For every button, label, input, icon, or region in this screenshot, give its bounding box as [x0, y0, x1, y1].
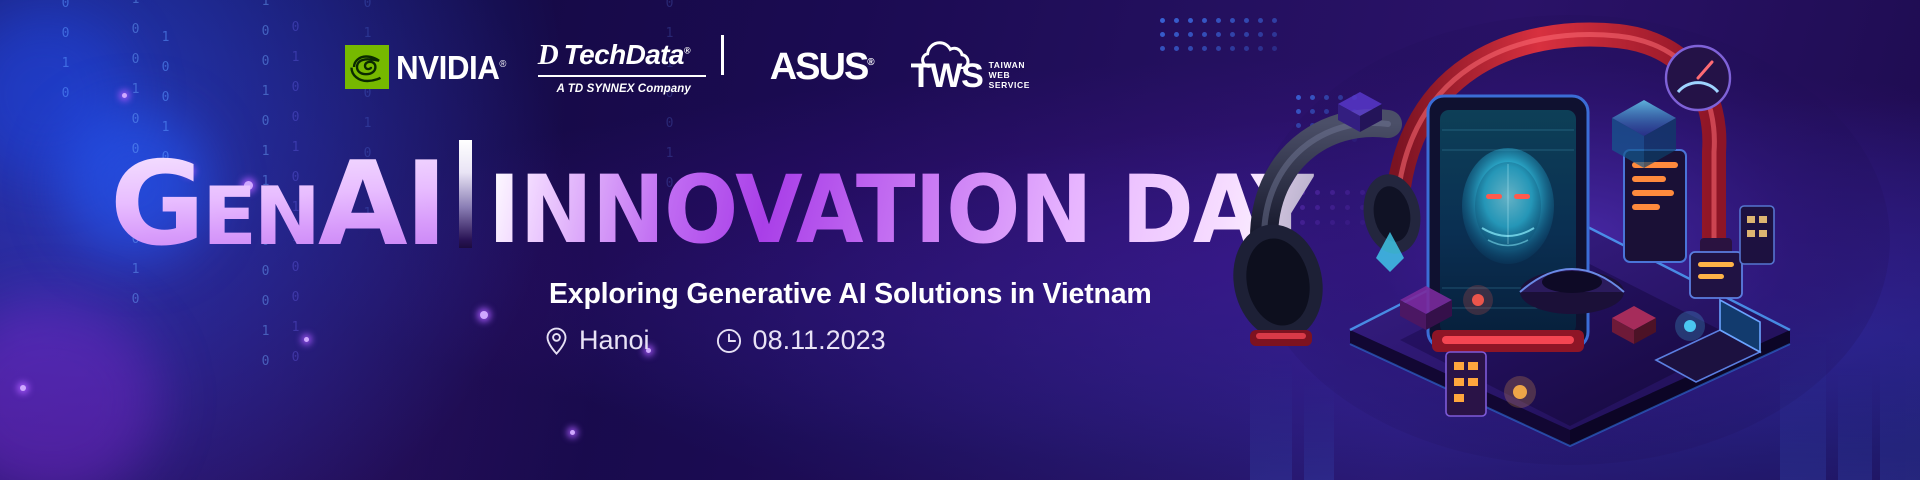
page-title: GENAI INNOVATION DAY [110, 140, 1376, 252]
headline-divider [459, 140, 472, 248]
genai-innovation-day-banner: 0 0 1 0 1 0 0 1 0 0 1 0 0 1 0 1 0 0 1 0 … [0, 0, 1920, 480]
tech-data-monogram: D [538, 41, 559, 70]
headline-genai: GENAI [110, 157, 445, 252]
logo-nvidia[interactable]: NVIDIA® [345, 45, 512, 89]
headline-genai-ai: AI [318, 137, 445, 272]
logo-asus[interactable]: ASUS® [770, 48, 873, 86]
event-location-label: Hanoi [579, 325, 650, 356]
cloud-icon [921, 39, 993, 69]
isometric-ai-tech-city-illustration [1220, 0, 1920, 480]
headline-genai-g: G [110, 137, 202, 272]
tws-sub-line-3: SERVICE [989, 80, 1030, 90]
event-date: 08.11.2023 [716, 325, 886, 356]
logo-tws[interactable]: TWS TAIWAN WEB SERVICE [911, 41, 1030, 93]
tech-data-underline [538, 75, 706, 77]
clock-icon [716, 328, 742, 354]
event-meta: Hanoi 08.11.2023 [545, 325, 886, 356]
sponsor-logo-row: NVIDIA® D TechData® A TD SYNNEX Company … [345, 36, 1030, 98]
sparkle [570, 430, 575, 435]
tws-sub-line-2: WEB [989, 70, 1011, 80]
tech-data-tagline: A TD SYNNEX Company [538, 84, 710, 96]
gauge-disc [1666, 46, 1730, 110]
event-date-label: 08.11.2023 [753, 325, 886, 356]
nvidia-eye-icon [345, 45, 389, 89]
subtitle: Exploring Generative AI Solutions in Vie… [549, 278, 1152, 311]
nvidia-wordmark: NVIDIA® [396, 51, 506, 84]
sparkle [480, 311, 488, 319]
binary-decoration-column: 0 0 1 0 [58, 0, 72, 186]
sparkle [122, 93, 127, 98]
tws-sub-lines: TAIWAN WEB SERVICE [989, 60, 1030, 93]
asus-wordmark: ASUS® [770, 48, 873, 86]
headline-innovation-day: INNOVATION DAY [488, 171, 1314, 252]
sparkle [304, 337, 309, 342]
ai-face-graphic [1462, 148, 1554, 264]
tws-sub-line-1: TAIWAN [989, 60, 1026, 70]
tech-data-slash-accent [721, 35, 724, 75]
location-pin-icon [545, 327, 568, 355]
logo-tech-data[interactable]: D TechData® A TD SYNNEX Company [538, 38, 710, 96]
tech-data-wordmark: TechData® [564, 41, 690, 69]
headline-genai-en: EN [202, 170, 318, 263]
sparkle [20, 385, 26, 391]
event-location: Hanoi [545, 325, 650, 356]
